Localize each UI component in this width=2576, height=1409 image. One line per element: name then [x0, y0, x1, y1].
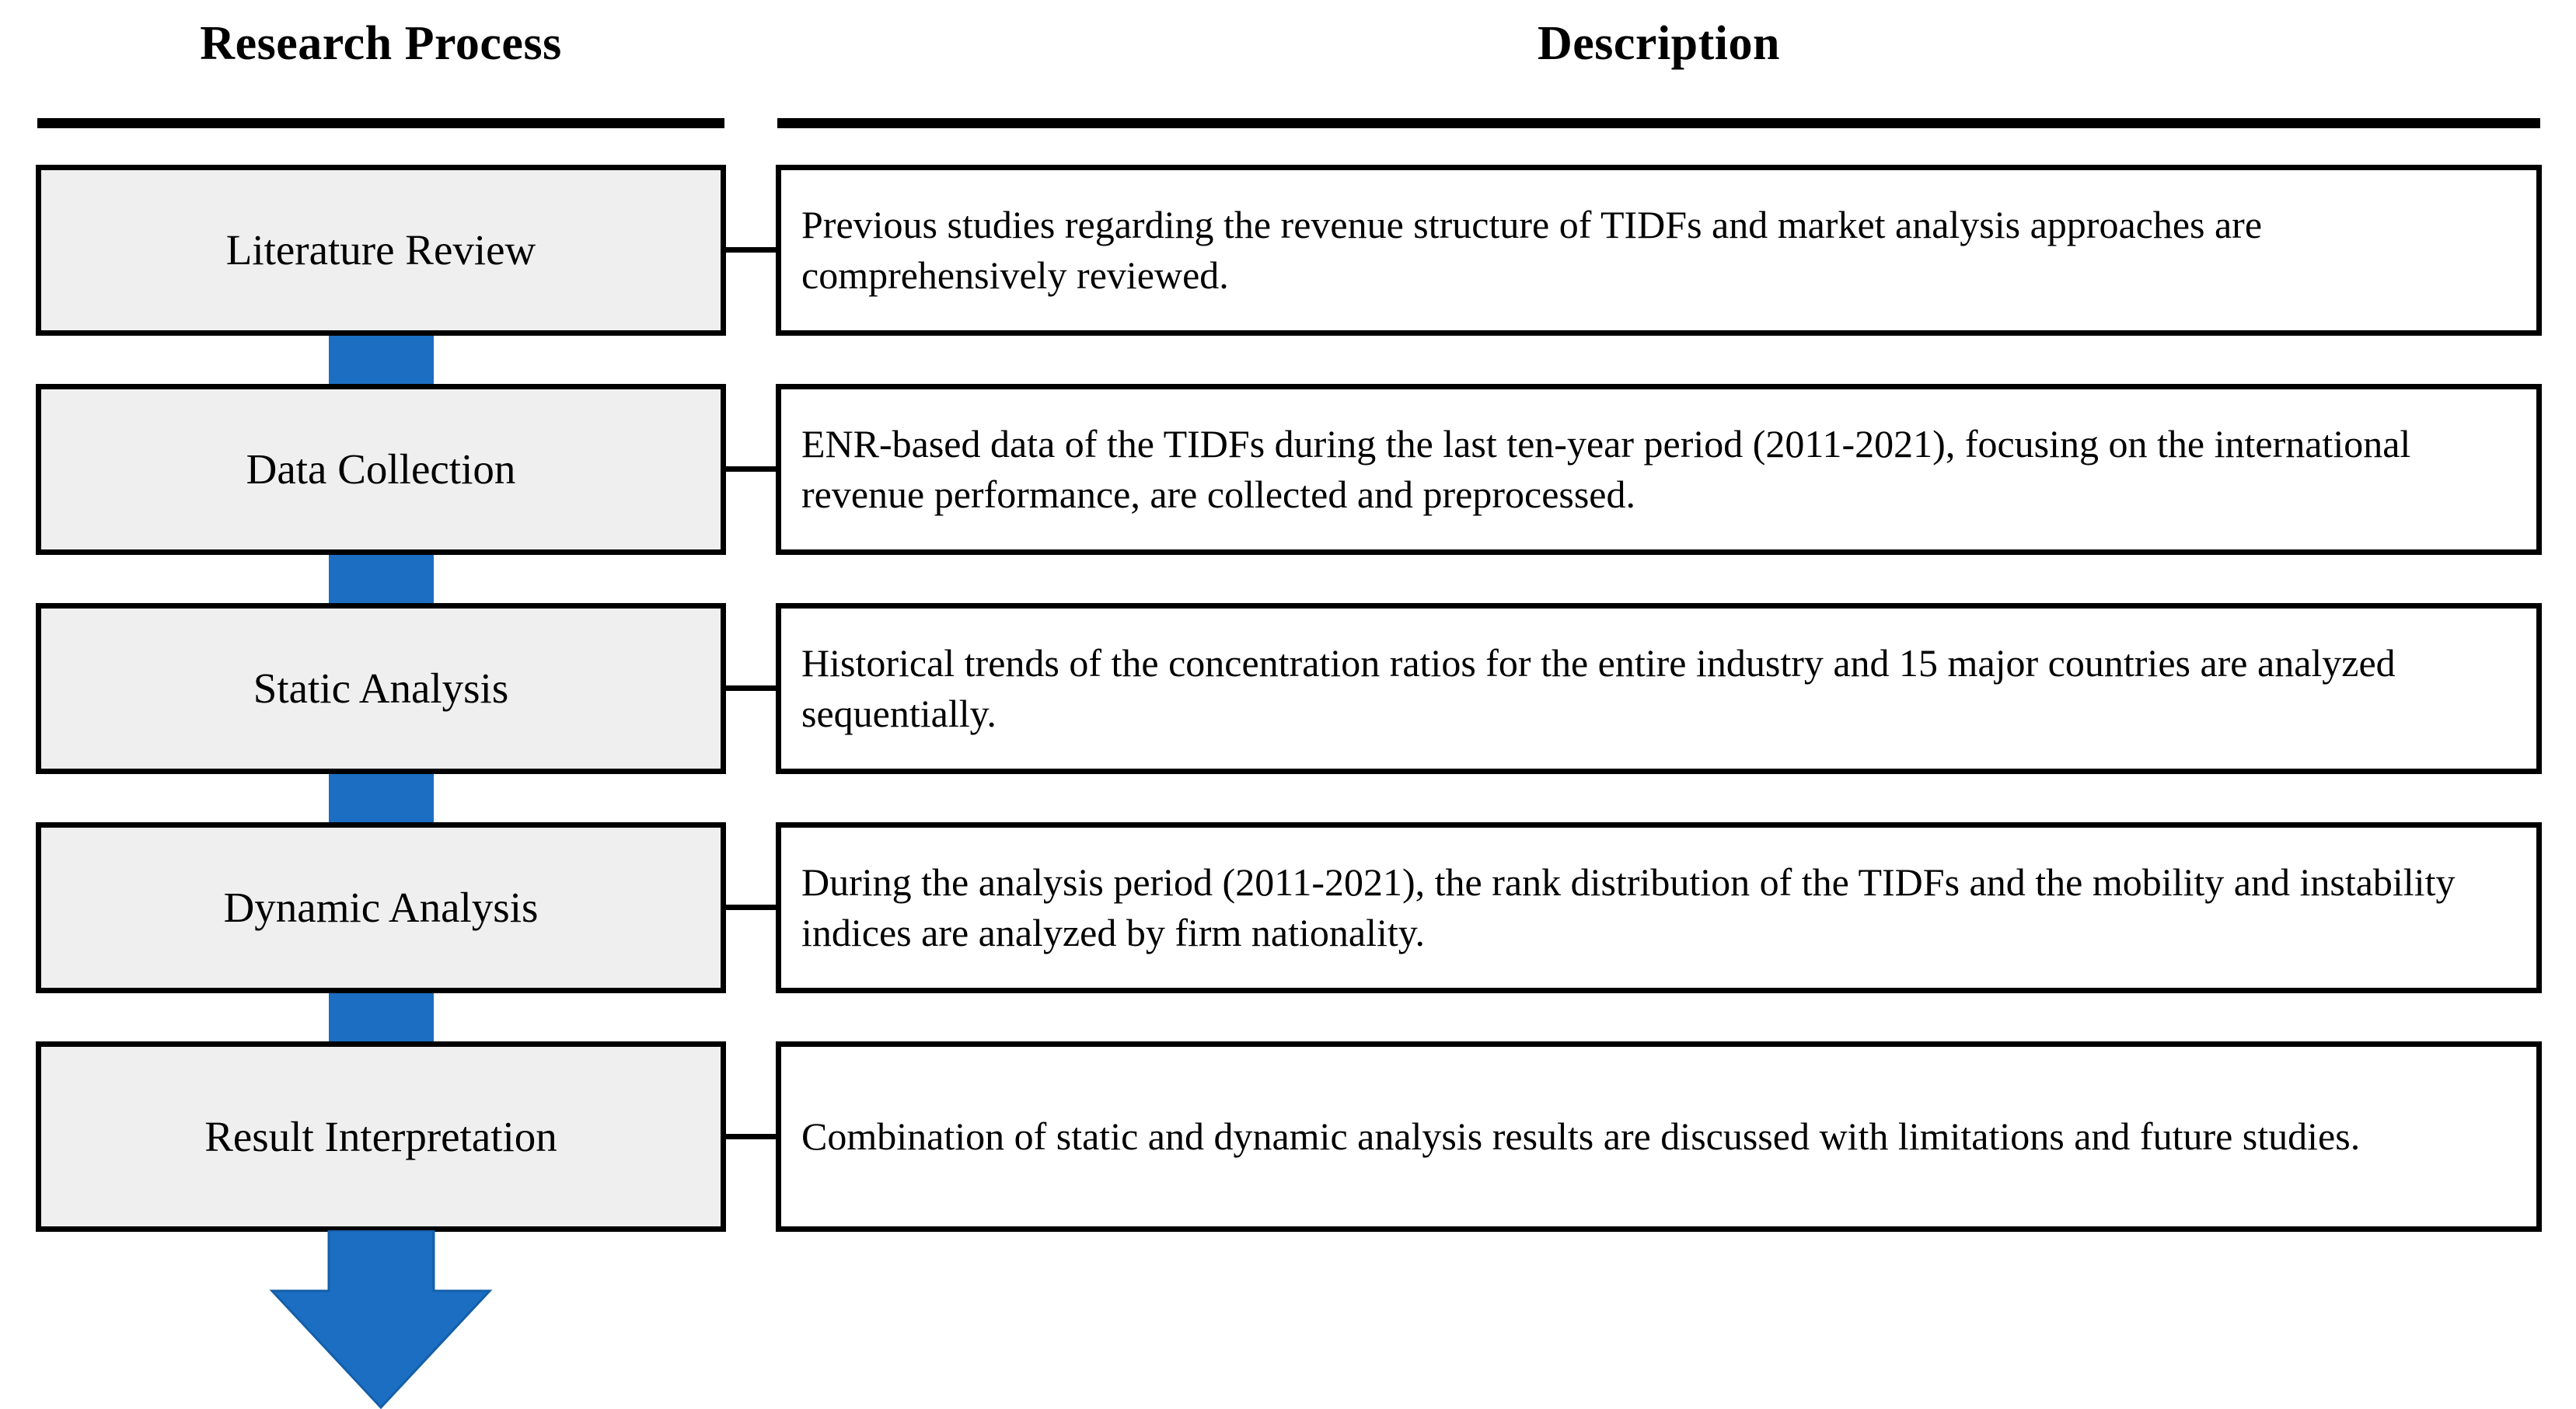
flow-row-2: Data Collection ENR-based data of the TI… — [0, 384, 2576, 555]
horizontal-link-line-icon — [724, 905, 780, 910]
process-label: Static Analysis — [253, 664, 508, 713]
header-rule-description — [777, 118, 2540, 128]
down-connector-bar-icon-3 — [329, 774, 434, 822]
down-connector-bar-icon-2 — [329, 555, 434, 603]
process-box-static-analysis[interactable]: Static Analysis — [36, 603, 726, 774]
description-text: ENR-based data of the TIDFs during the l… — [781, 419, 2536, 520]
description-box-dynamic-analysis: During the analysis period (2011-2021), … — [776, 822, 2542, 993]
description-box-data-collection: ENR-based data of the TIDFs during the l… — [776, 384, 2542, 555]
description-text: During the analysis period (2011-2021), … — [781, 857, 2536, 958]
flow-row-1: Literature Review Previous studies regar… — [0, 165, 2576, 336]
process-label: Literature Review — [226, 225, 536, 274]
header-rule-research-process — [37, 118, 724, 128]
process-box-result-interpretation[interactable]: Result Interpretation — [36, 1041, 726, 1232]
process-box-literature-review[interactable]: Literature Review — [36, 165, 726, 336]
description-text: Combination of static and dynamic analys… — [781, 1111, 2379, 1162]
description-box-static-analysis: Historical trends of the concentration r… — [776, 603, 2542, 774]
column-header-description: Description — [776, 5, 2542, 82]
horizontal-link-line-icon — [724, 247, 780, 253]
final-arrow-svg — [0, 1230, 2576, 1409]
description-text: Historical trends of the concentration r… — [781, 638, 2536, 739]
process-label: Result Interpretation — [204, 1112, 557, 1161]
process-label: Dynamic Analysis — [224, 883, 539, 932]
horizontal-link-line-icon — [724, 685, 780, 691]
down-connector-bar-icon-4 — [329, 993, 434, 1041]
description-box-result-interpretation: Combination of static and dynamic analys… — [776, 1041, 2542, 1232]
description-box-literature-review: Previous studies regarding the revenue s… — [776, 165, 2542, 336]
description-text: Previous studies regarding the revenue s… — [781, 200, 2536, 301]
column-headers: Research Process Description — [0, 0, 2576, 132]
process-box-data-collection[interactable]: Data Collection — [36, 384, 726, 555]
flow-row-3: Static Analysis Historical trends of the… — [0, 603, 2576, 774]
down-arrow-icon — [272, 1230, 490, 1407]
flow-row-4: Dynamic Analysis During the analysis per… — [0, 822, 2576, 993]
down-connector-bar-icon-1 — [329, 336, 434, 384]
horizontal-link-line-icon — [724, 1134, 780, 1139]
process-box-dynamic-analysis[interactable]: Dynamic Analysis — [36, 822, 726, 993]
horizontal-link-line-icon — [724, 466, 780, 472]
process-label: Data Collection — [246, 445, 516, 493]
column-header-research-process: Research Process — [36, 5, 726, 82]
flow-row-5: Result Interpretation Combination of sta… — [0, 1041, 2576, 1232]
